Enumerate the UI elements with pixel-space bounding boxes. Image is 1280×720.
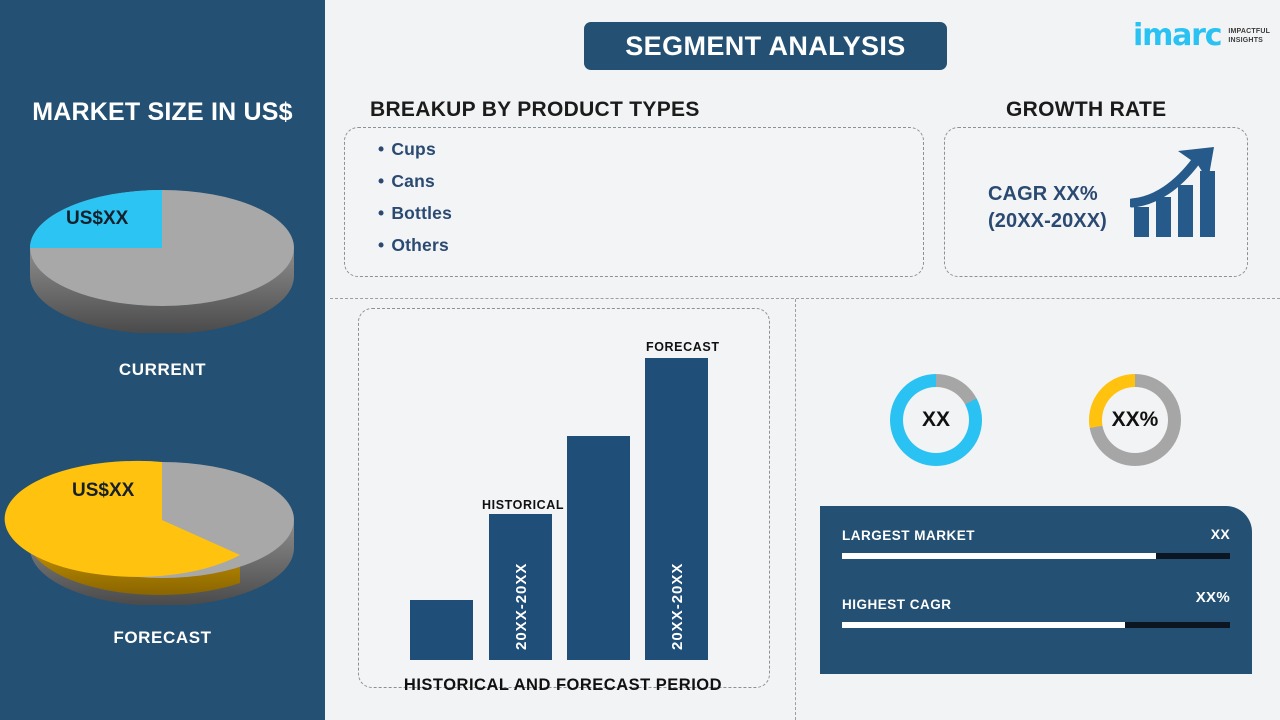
infographic-root: MARKET SIZE IN US$ US$XX CURRENT <box>0 0 1280 720</box>
bar-chart-axis-label: HISTORICAL AND FORECAST PERIOD <box>358 676 768 695</box>
kpi-label: LARGEST MARKET <box>842 528 975 543</box>
logo-tagline: IMPACTFUL INSIGHTS <box>1228 27 1270 46</box>
largest-market-donut-value: XX <box>922 408 950 432</box>
list-item: •Cups <box>378 139 452 160</box>
largest-market-donut: XX <box>890 374 982 466</box>
current-pie-chart: US$XX <box>0 158 325 338</box>
list-item: •Others <box>378 235 452 256</box>
current-pie-svg <box>0 158 325 333</box>
kpi-progress-track <box>842 622 1230 628</box>
list-item-label: Cups <box>391 139 436 159</box>
logo-tagline-line2: INSIGHTS <box>1228 36 1270 45</box>
growth-arrow-icon <box>1130 145 1230 255</box>
kpi-progress-track <box>842 553 1230 559</box>
imarc-logo: imarc IMPACTFUL INSIGHTS <box>1133 14 1263 58</box>
highest-cagr-donut: XX% <box>1089 374 1181 466</box>
bullet-icon: • <box>378 203 384 223</box>
divider-vertical <box>795 299 796 720</box>
cagr-text: CAGR XX% (20XX-20XX) <box>988 181 1107 235</box>
donut-hole: XX <box>903 387 969 453</box>
page-title-text: SEGMENT ANALYSIS <box>625 31 905 62</box>
market-size-title: MARKET SIZE IN US$ <box>0 98 325 127</box>
kpi-label: HIGHEST CAGR <box>842 597 952 612</box>
logo-wordmark: imarc <box>1133 21 1221 51</box>
forecast-pie-chart: US$XX <box>0 430 325 610</box>
kpi-value: XX <box>1211 526 1230 542</box>
bullet-icon: • <box>378 171 384 191</box>
logo-tagline-line1: IMPACTFUL <box>1228 27 1270 36</box>
current-pie-value: US$XX <box>66 208 128 230</box>
product-types-list: •Cups •Cans •Bottles •Others <box>378 139 452 267</box>
list-item: •Bottles <box>378 203 452 224</box>
bar-4-period: 20XX-20XX <box>669 563 686 650</box>
growth-rate-heading: GROWTH RATE <box>1006 98 1166 122</box>
kpi-progress-fill <box>842 553 1156 559</box>
forecast-pie-value: US$XX <box>72 480 134 502</box>
forecast-pie-caption: FORECAST <box>0 628 325 648</box>
list-item-label: Others <box>391 235 449 255</box>
market-size-panel: MARKET SIZE IN US$ US$XX CURRENT <box>0 0 325 720</box>
forecast-label: FORECAST <box>646 340 720 354</box>
donut-hole: XX% <box>1102 387 1168 453</box>
page-title: SEGMENT ANALYSIS <box>584 22 947 70</box>
bullet-icon: • <box>378 139 384 159</box>
cagr-period: (20XX-20XX) <box>988 208 1107 235</box>
list-item-label: Bottles <box>391 203 452 223</box>
kpi-panel: LARGEST MARKET XX HIGHEST CAGR XX% <box>820 506 1252 674</box>
product-types-heading: BREAKUP BY PRODUCT TYPES <box>370 98 700 122</box>
cagr-value: CAGR XX% <box>988 181 1107 208</box>
divider-horizontal <box>330 298 1280 299</box>
bar-3 <box>567 436 630 660</box>
kpi-progress-fill <box>842 622 1125 628</box>
forecast-pie-svg <box>0 430 325 605</box>
bar-2-period: 20XX-20XX <box>513 563 530 650</box>
list-item: •Cans <box>378 171 452 192</box>
bar-chart: HISTORICAL 20XX-20XX FORECAST 20XX-20XX <box>358 308 768 686</box>
bar-1 <box>410 600 473 660</box>
historical-label: HISTORICAL <box>482 498 564 512</box>
bullet-icon: • <box>378 235 384 255</box>
kpi-value: XX% <box>1196 589 1230 606</box>
list-item-label: Cans <box>391 171 435 191</box>
highest-cagr-donut-value: XX% <box>1112 408 1159 432</box>
current-pie-caption: CURRENT <box>0 360 325 380</box>
